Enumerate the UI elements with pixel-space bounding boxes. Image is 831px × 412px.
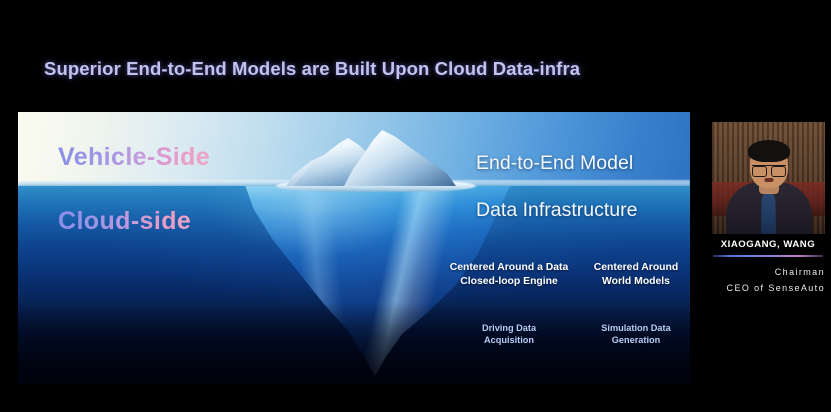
presentation-screen: Superior End-to-End Models are Built Upo… — [0, 0, 831, 412]
label-end-to-end-model: End-to-End Model — [476, 152, 633, 175]
callout-column-right: Centered Around World Models Simulation … — [578, 240, 694, 367]
iceberg-peak — [286, 126, 466, 186]
label-cloud-side: Cloud-side — [58, 207, 191, 236]
divider — [713, 255, 823, 257]
speaker-hair — [748, 140, 790, 162]
page-title: Superior End-to-End Models are Built Upo… — [44, 58, 684, 86]
speaker-name: XIAOGANG, WANG — [705, 239, 831, 250]
glasses-icon — [752, 165, 786, 174]
label-vehicle-side: Vehicle-Side — [58, 143, 210, 172]
callout-subheading: Driving Data Acquisition — [434, 322, 584, 346]
label-data-infrastructure: Data Infrastructure — [476, 199, 637, 222]
speaker-video-feed[interactable] — [712, 122, 825, 234]
callout-column-left: Centered Around a Data Closed-loop Engin… — [434, 240, 584, 367]
callout-heading: Centered Around World Models — [578, 261, 694, 288]
speaker-role: Chairman — [775, 267, 825, 277]
speaker-organization: CEO of SenseAuto — [727, 283, 825, 293]
speaker-panel: XIAOGANG, WANG Chairman CEO of SenseAuto — [705, 115, 831, 300]
callout-subheading: Simulation Data Generation — [578, 322, 694, 346]
callout-heading: Centered Around a Data Closed-loop Engin… — [434, 261, 584, 288]
speaker-mouth — [764, 178, 773, 182]
